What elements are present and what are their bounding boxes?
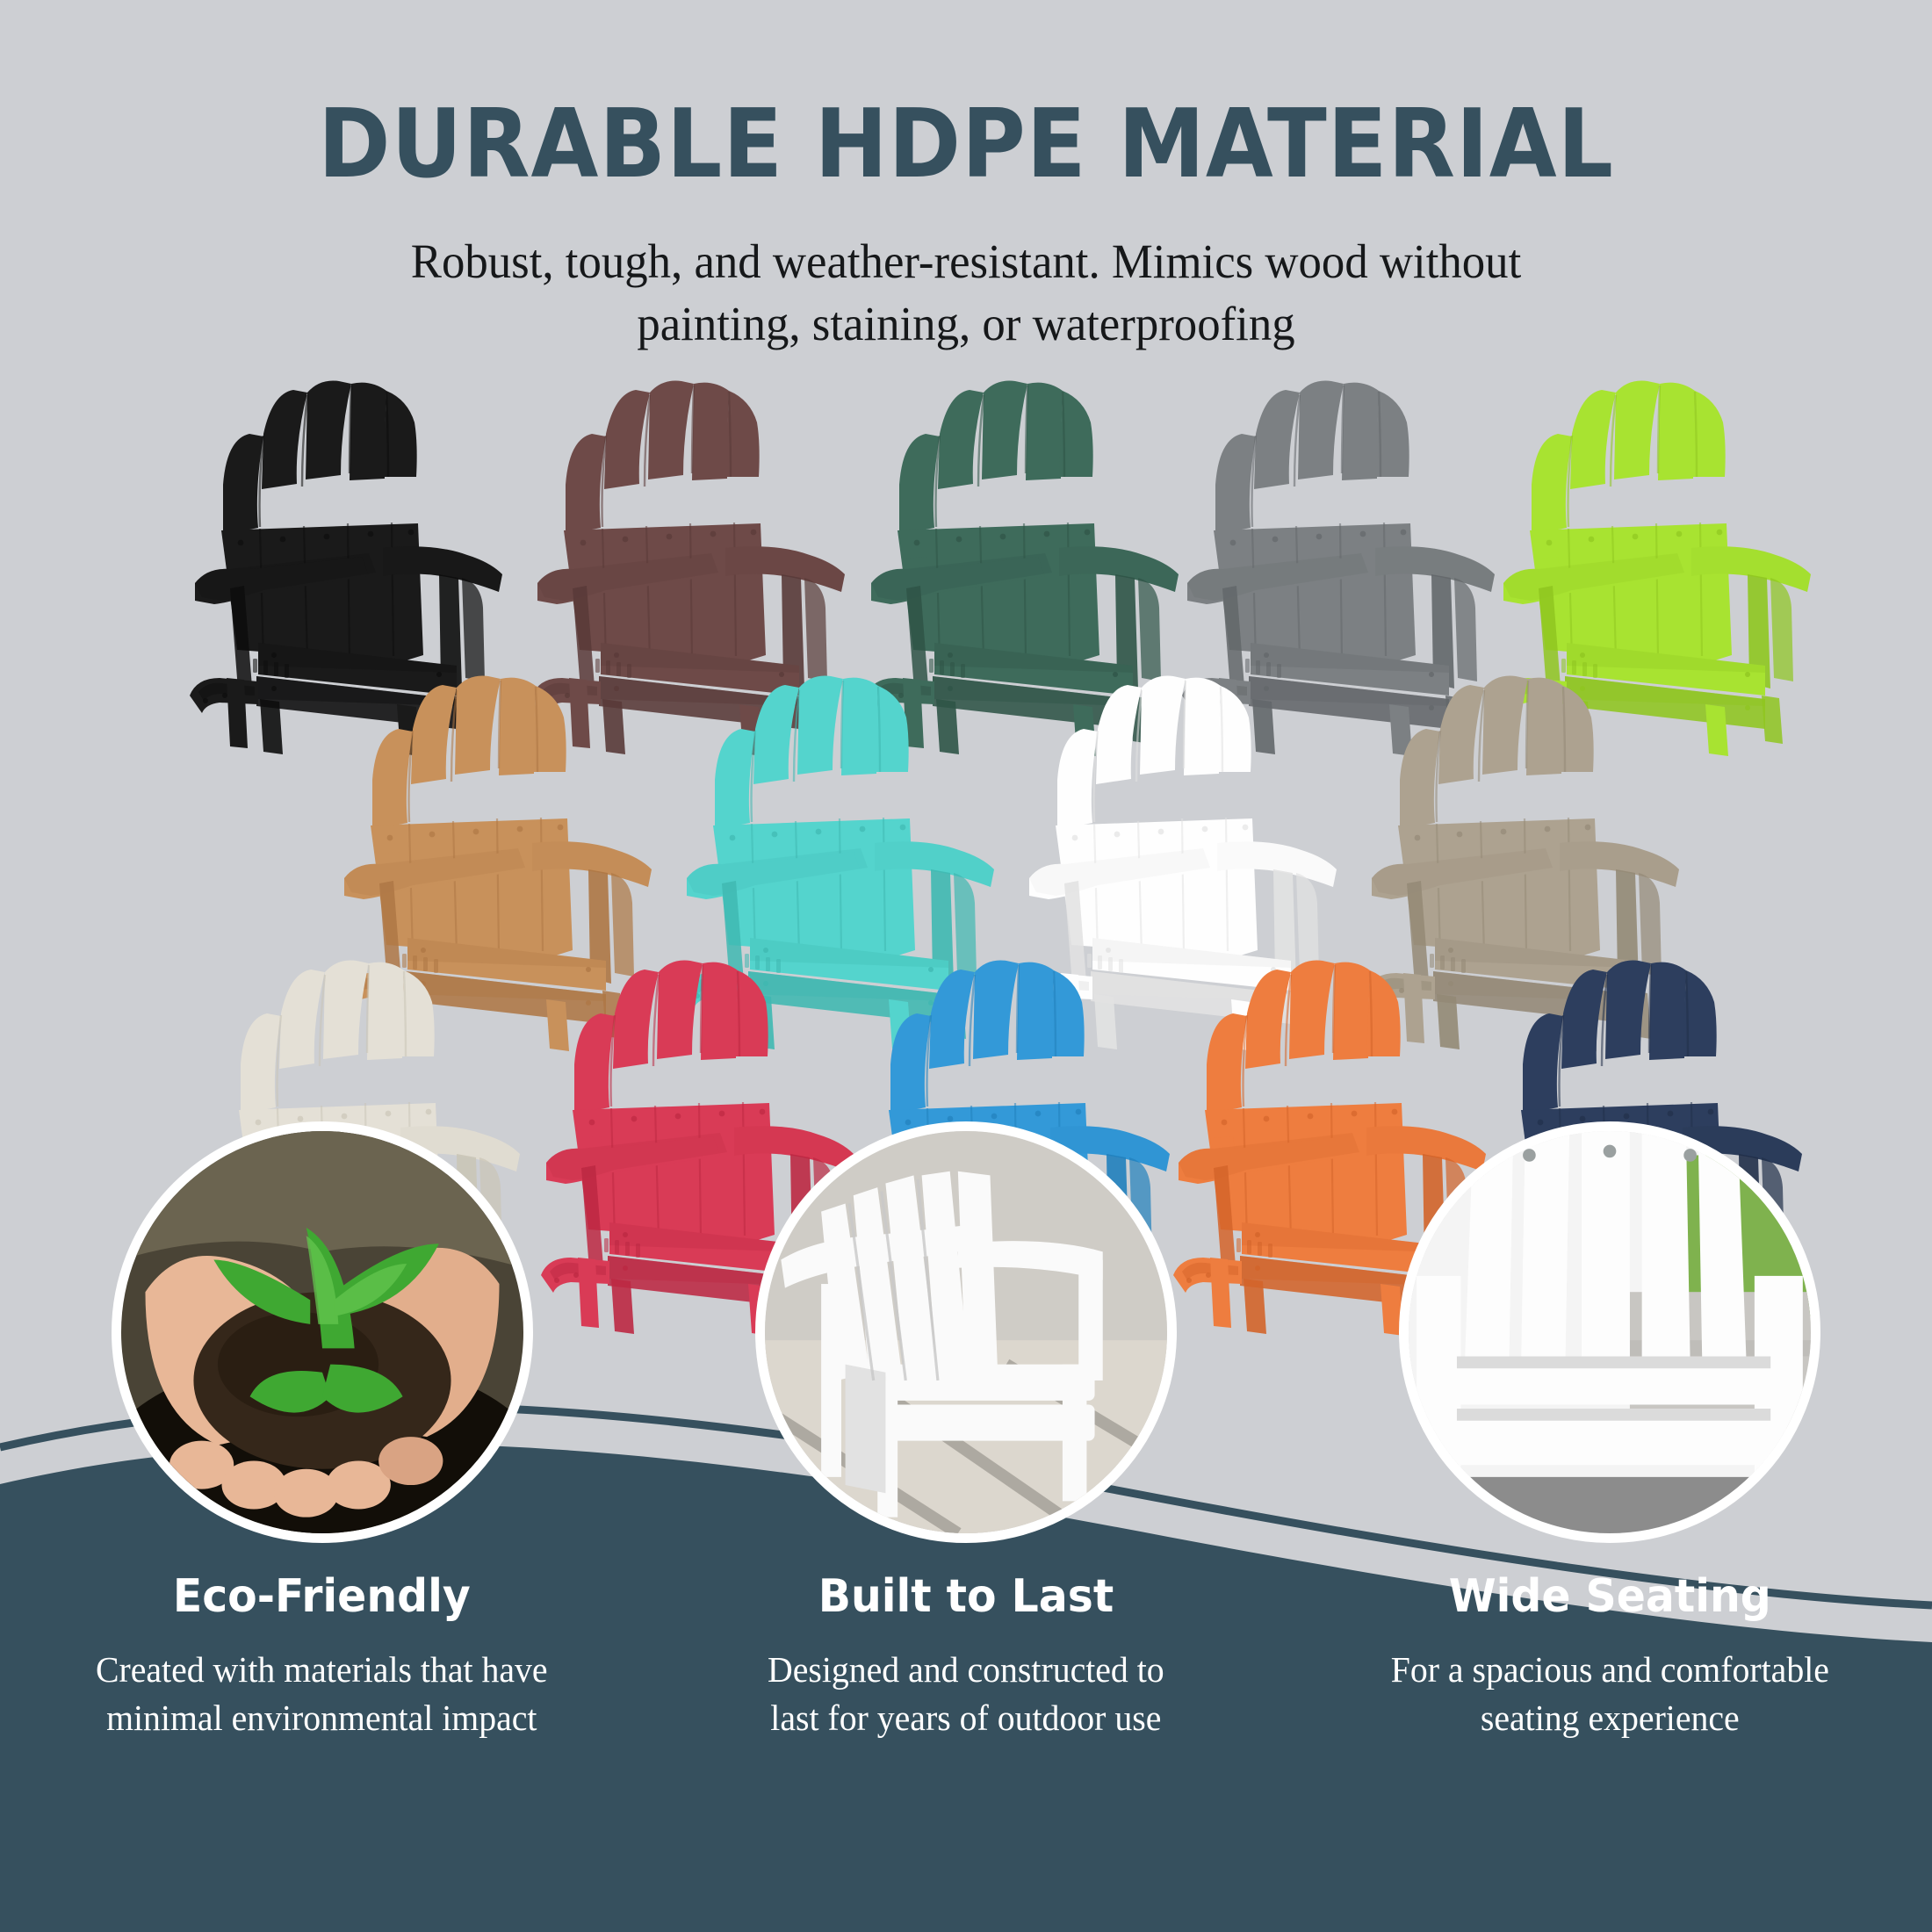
- feature-built-to-last: Built to LastDesigned and constructed to…: [644, 1352, 1287, 1932]
- feature-description-line-2: seating experience: [1391, 1694, 1829, 1742]
- feature-eco-friendly: Eco-FriendlyCreated with materials that …: [0, 1352, 644, 1932]
- feature-description-line-2: last for years of outdoor use: [768, 1694, 1164, 1742]
- feature-description-line-2: minimal environmental impact: [96, 1694, 548, 1742]
- white-chair-wide-seat-closeup-photo: [1399, 1121, 1820, 1543]
- feature-title: Built to Last: [818, 1570, 1114, 1623]
- chair-color-grid: [0, 0, 1932, 1317]
- hands-holding-seedling-in-soil-photo: [112, 1121, 533, 1543]
- feature-title: Eco-Friendly: [173, 1570, 471, 1623]
- feature-list: Eco-FriendlyCreated with materials that …: [0, 1352, 1932, 1932]
- feature-description: Created with materials that haveminimal …: [96, 1646, 548, 1742]
- feature-wide-seating: Wide SeatingFor a spacious and comfortab…: [1288, 1352, 1932, 1932]
- feature-description-line-1: Designed and constructed to: [768, 1646, 1164, 1694]
- feature-title: Wide Seating: [1449, 1570, 1771, 1623]
- feature-description-line-1: Created with materials that have: [96, 1646, 548, 1694]
- feature-description-line-1: For a spacious and comfortable: [1391, 1646, 1829, 1694]
- feature-description: For a spacious and comfortableseating ex…: [1391, 1646, 1829, 1742]
- feature-description: Designed and constructed tolast for year…: [768, 1646, 1164, 1742]
- white-adirondack-chair-on-patio-photo: [755, 1121, 1177, 1543]
